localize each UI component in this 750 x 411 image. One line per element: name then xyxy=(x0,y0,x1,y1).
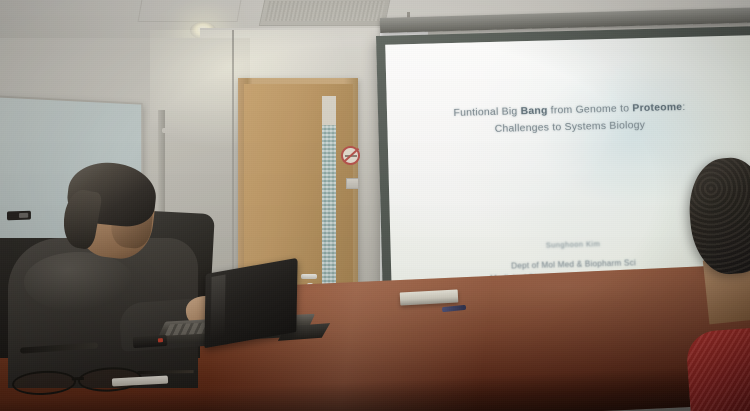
eyeglass-temple xyxy=(138,370,194,374)
whiteboard-hook xyxy=(162,128,178,133)
eyeglass-bridge xyxy=(72,377,84,381)
slide-title-colon: : xyxy=(682,102,685,113)
slide-title-bold-proteome: Proteome xyxy=(632,102,682,114)
light-switch[interactable] xyxy=(346,178,359,189)
ceiling-panel xyxy=(138,0,243,22)
whiteboard-marker-icon xyxy=(7,211,31,221)
slide-title-mid: from Genome to xyxy=(547,103,632,116)
small-device[interactable] xyxy=(133,335,168,348)
viewer-sweater-texture xyxy=(685,327,750,411)
door-handle-icon[interactable] xyxy=(301,274,317,279)
ac-vent-icon xyxy=(259,0,391,26)
slide-title: Funtional Big Bang from Genome to Proteo… xyxy=(453,99,686,139)
slide-title-bold-bang: Bang xyxy=(520,106,547,118)
no-smoking-icon xyxy=(341,146,360,165)
slide-author: Sunghoon Kim xyxy=(546,239,601,249)
laptop-lid-highlight xyxy=(210,274,225,339)
eyeglass-lens-left xyxy=(11,369,76,396)
slide-title-pre: Funtional Big xyxy=(453,106,520,119)
slide-spacer xyxy=(570,136,573,239)
presenter-shoulder-highlight xyxy=(24,252,134,312)
photo-scene: Funtional Big Bang from Genome to Proteo… xyxy=(0,0,750,411)
viewer-red-sweater xyxy=(685,327,750,411)
